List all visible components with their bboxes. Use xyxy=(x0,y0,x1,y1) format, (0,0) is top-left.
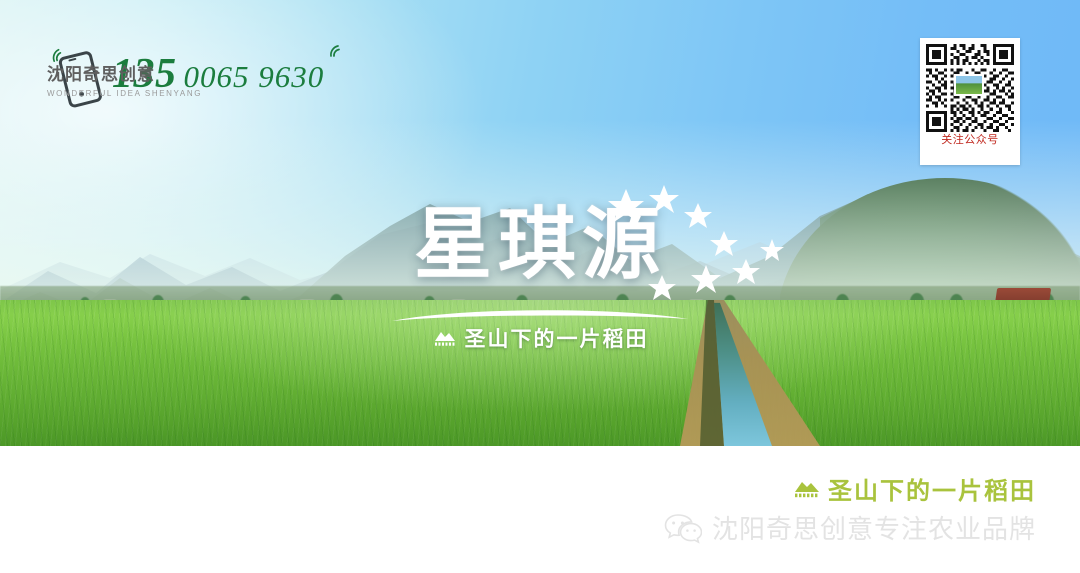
qr-caption: 关注公众号 xyxy=(926,135,1014,146)
poster: 135 0065 9630 xyxy=(0,0,1080,573)
footer-tagline: 圣山下的一片稻田 xyxy=(792,471,1036,506)
agency-logo: 沈阳奇思创意 WONDERFUL IDEA SHENYANG xyxy=(47,66,202,98)
agency-name-en: WONDERFUL IDEA SHENYANG xyxy=(47,89,202,98)
wechat-icon xyxy=(664,512,702,544)
brand-tagline-text: 圣山下的一片稻田 xyxy=(465,323,649,353)
mountain-logo-icon xyxy=(792,478,822,499)
footer-tagline-text: 圣山下的一片稻田 xyxy=(828,471,1036,506)
brand-tagline: 圣山下的一片稻田 xyxy=(0,323,1080,353)
signal-wave-right-icon xyxy=(328,44,344,58)
mountain-logo-icon xyxy=(432,329,458,347)
phone-number-rest: 0065 9630 xyxy=(184,59,325,95)
brand-name: 星琪源 xyxy=(0,205,1080,283)
footer-wechat: 沈阳奇思创意专注农业品牌 xyxy=(664,509,1036,546)
qr-center-logo xyxy=(954,74,984,96)
qr-card[interactable]: 关注公众号 xyxy=(920,38,1020,165)
agency-name-cn: 沈阳奇思创意 xyxy=(47,66,202,85)
footer-wechat-text: 沈阳奇思创意专注农业品牌 xyxy=(712,509,1036,546)
star-arc-icon xyxy=(600,183,800,313)
brand-lockup: 星琪源 圣山下的一片稻田 xyxy=(0,205,1080,283)
